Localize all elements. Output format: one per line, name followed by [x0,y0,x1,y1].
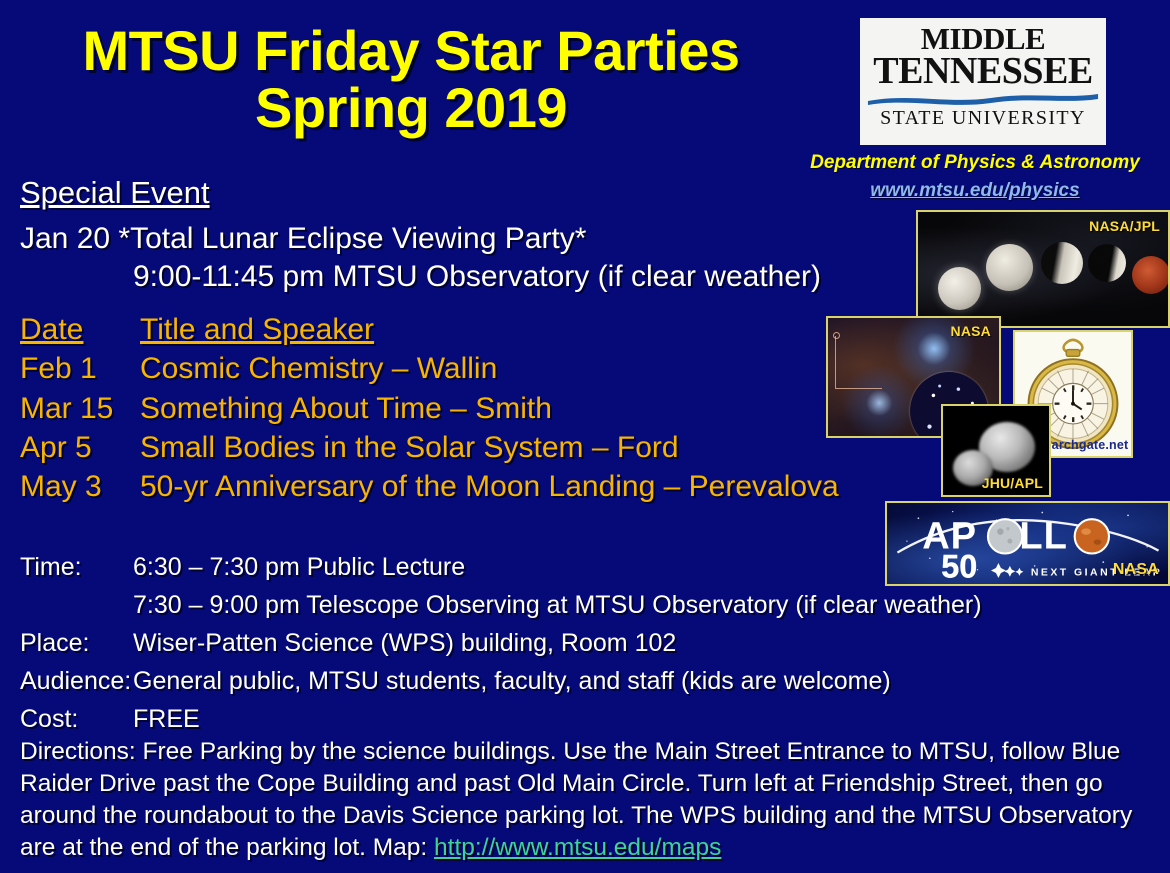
detail-row: Cost: FREE [20,700,1060,738]
apollo-50-banner: AP LL 50 NEXT GIANT LEAP NASA [885,501,1170,586]
svg-text:LL: LL [1019,516,1067,558]
moon-phase-totality-blood [1132,256,1170,294]
directions-paragraph: Directions: Free Parking by the science … [20,736,1150,864]
logo-line-state-university: STATE UNIVERSITY [866,107,1100,130]
detail-label: Time: [20,548,133,586]
moon-phase-full [938,267,981,310]
detail-label: Place: [20,624,133,662]
detail-value: FREE [133,700,200,738]
detail-label: Audience: [20,662,133,700]
logo-swoosh-icon [866,90,1100,106]
department-url-link[interactable]: www.mtsu.edu/physics [790,180,1160,202]
schedule-title: Something About Time – Smith [140,389,552,428]
schedule-header-date: Date [20,310,140,349]
detail-value: 6:30 – 7:30 pm Public Lecture [133,548,465,586]
eclipse-credit-label: NASA/JPL [1089,218,1160,234]
table-row: May 3 50-yr Anniversary of the Moon Land… [20,467,920,506]
lunar-eclipse-photo: NASA/JPL [916,210,1170,328]
table-row: Feb 1 Cosmic Chemistry – Wallin [20,349,920,388]
detail-value: Wiser-Patten Science (WPS) building, Roo… [133,624,676,662]
special-event-line-2: 9:00-11:45 pm MTSU Observatory (if clear… [133,260,821,294]
detail-value: 7:30 – 9:00 pm Telescope Observing at MT… [133,586,982,624]
logo-line-tennessee: TENNESSEE [866,54,1100,89]
schedule-date: Apr 5 [20,428,140,467]
detail-label: Cost: [20,700,133,738]
apollo-credit-label: NASA [1113,561,1159,579]
schedule-header-title: Title and Speaker [140,310,374,349]
nebula-credit-label: NASA [951,323,991,339]
mtsu-logo: MIDDLE TENNESSEE STATE UNIVERSITY [860,18,1106,145]
page-title: MTSU Friday Star Parties Spring 2019 [0,22,822,136]
moon-phase-crescent [1088,244,1126,282]
asteroid-credit-label: JHU/APL [982,475,1043,491]
detail-row: 7:30 – 9:00 pm Telescope Observing at MT… [20,586,1060,624]
special-event-line-1: Jan 20 *Total Lunar Eclipse Viewing Part… [20,222,586,256]
schedule-header-row: Date Title and Speaker [20,310,920,349]
map-url-link[interactable]: http://www.mtsu.edu/maps [434,834,721,861]
schedule-date: May 3 [20,467,140,506]
schedule-date: Feb 1 [20,349,140,388]
table-row: Mar 15 Something About Time – Smith [20,389,920,428]
asteroid-photo: JHU/APL [941,404,1051,497]
schedule-title: 50-yr Anniversary of the Moon Landing – … [140,467,839,506]
detail-row: Place: Wiser-Patten Science (WPS) buildi… [20,624,1060,662]
schedule-date: Mar 15 [20,389,140,428]
special-event-heading: Special Event [20,175,210,211]
schedule-table: Date Title and Speaker Feb 1 Cosmic Chem… [20,310,920,506]
title-line-2: Spring 2019 [0,79,822,136]
detail-row: Audience: General public, MTSU students,… [20,662,1060,700]
department-name: Department of Physics & Astronomy [790,152,1160,174]
schedule-title: Small Bodies in the Solar System – Ford [140,428,679,467]
moon-phase-half [1041,242,1083,284]
poster-canvas: MTSU Friday Star Parties Spring 2019 MID… [0,0,1170,873]
nebula-callout-marker [835,336,882,389]
svg-text:50: 50 [941,548,977,584]
table-row: Apr 5 Small Bodies in the Solar System –… [20,428,920,467]
detail-value: General public, MTSU students, faculty, … [133,662,891,700]
title-line-1: MTSU Friday Star Parties [0,22,822,79]
moon-phase-gibbous [986,244,1033,291]
schedule-title: Cosmic Chemistry – Wallin [140,349,497,388]
